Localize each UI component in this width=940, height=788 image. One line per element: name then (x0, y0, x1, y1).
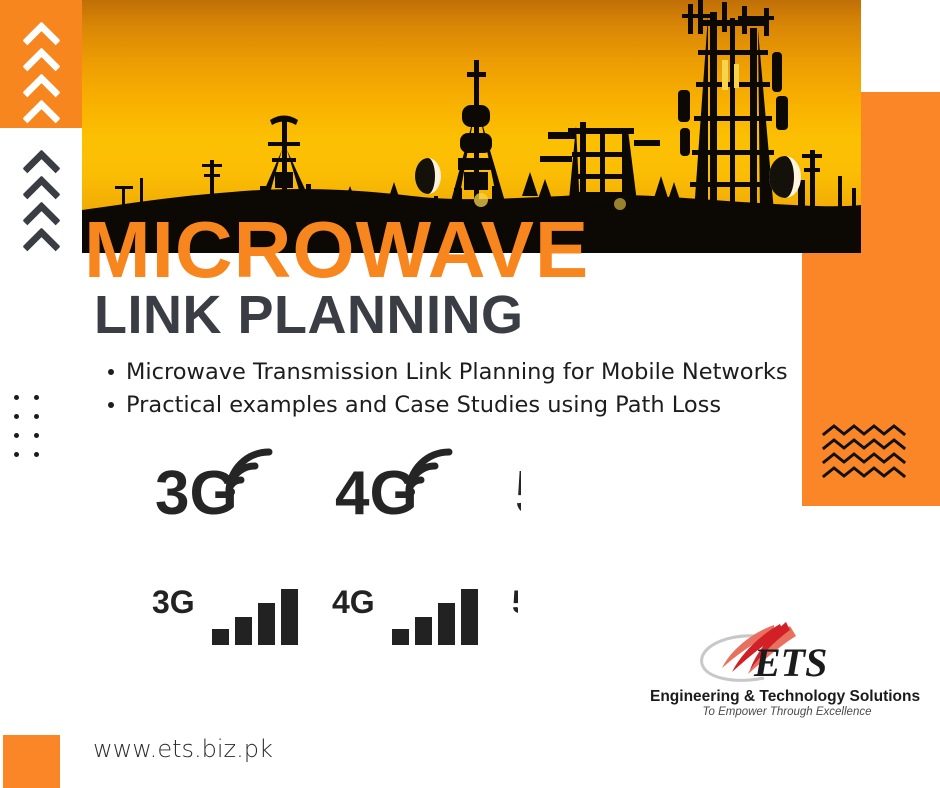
orange-square-bottom-left (3, 735, 60, 788)
poster-canvas: MICROWAVE LINK PLANNING Microwave Transm… (0, 0, 940, 788)
network-icon-4g-bars: 4G (332, 583, 486, 649)
page-title-main: MICROWAVE (84, 210, 589, 290)
zigzag-wave-svg (822, 424, 906, 480)
signal-bars-icon: 4G (332, 583, 486, 649)
signal-arc-icon: 3G (155, 448, 309, 526)
chevron-up-icon (22, 224, 62, 250)
dot-grid-icon (14, 395, 54, 471)
chevron-stack-dark (22, 146, 62, 250)
signal-arc-icon: 5G (515, 448, 521, 526)
page-title-sub: LINK PLANNING (94, 288, 523, 342)
dot (14, 414, 19, 419)
ets-logo: ETS Engineering & Technology Solutions T… (650, 620, 920, 720)
chevron-up-icon (22, 172, 62, 198)
network-label: 3G (155, 459, 238, 526)
signal-arc-icon: 4G (335, 448, 489, 526)
network-label: 4G (335, 459, 418, 526)
dot (14, 395, 19, 400)
logo-slogan: To Empower Through Excellence (650, 706, 924, 718)
dot (14, 452, 19, 457)
ets-wordmark: ETS (753, 640, 827, 685)
network-icons-bar-row: 3G 4G 5G (152, 583, 518, 649)
logo-tagline: Engineering & Technology Solutions (650, 688, 920, 706)
chevron-stack-white (22, 18, 62, 122)
feature-bullet-list: Microwave Transmission Link Planning for… (100, 356, 788, 421)
chevron-up-icon (22, 198, 62, 224)
network-label: 3G (152, 584, 195, 620)
list-item: Practical examples and Case Studies usin… (126, 389, 788, 422)
dot (34, 433, 39, 438)
network-label: 4G (332, 584, 375, 620)
network-label: 5G (515, 459, 521, 526)
orange-block-right-upper (861, 92, 940, 254)
network-icons-arc-row: 3G 4G 5G (155, 448, 521, 526)
network-icon-4g-arc: 4G (335, 448, 489, 526)
website-url[interactable]: www.ets.biz.pk (93, 735, 273, 763)
network-label: 5G (512, 584, 518, 620)
signal-bars-icon: 5G (512, 583, 518, 649)
network-icon-3g-arc: 3G (155, 448, 309, 526)
chevron-up-icon (22, 18, 62, 44)
network-icon-3g-bars: 3G (152, 583, 306, 649)
zigzag-wave-icon (822, 424, 906, 480)
signal-bars-icon: 3G (152, 583, 306, 649)
dot (14, 433, 19, 438)
dot (34, 395, 39, 400)
network-icon-5g-bars-clipped: 5G (512, 583, 518, 649)
list-item: Microwave Transmission Link Planning for… (126, 356, 788, 389)
chevron-up-icon (22, 44, 62, 70)
dot (34, 452, 39, 457)
chevron-up-icon (22, 96, 62, 122)
chevron-up-icon (22, 146, 62, 172)
chevron-up-icon (22, 70, 62, 96)
network-icon-5g-arc-clipped: 5G (515, 448, 521, 526)
dot (34, 414, 39, 419)
ets-flame-swoosh-logo: ETS (650, 620, 920, 690)
